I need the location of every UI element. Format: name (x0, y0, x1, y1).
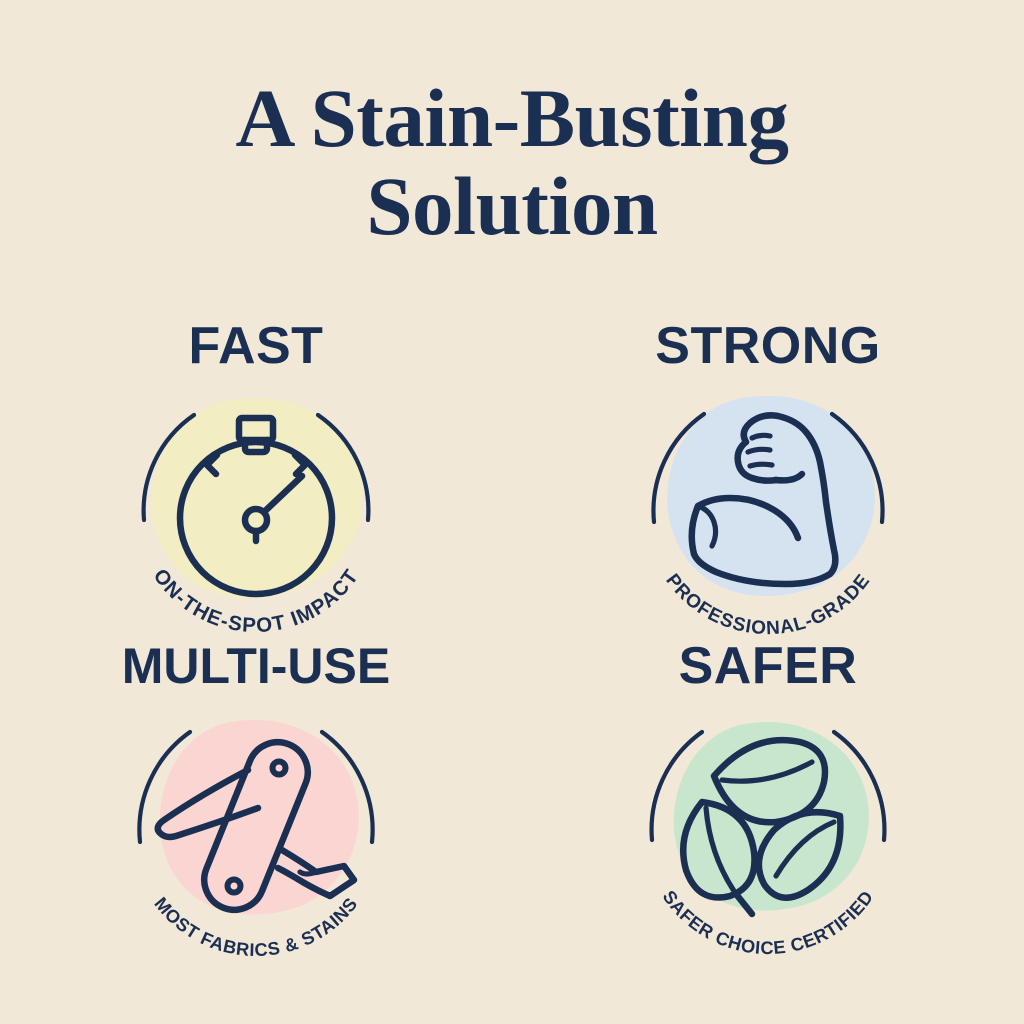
badge-strong-art: PROFESSIONAL-GRADE (618, 370, 918, 638)
badge-multi-use-heading: MULTI-USE (91, 638, 421, 694)
badge-multi-use: MULTI-USE (0, 638, 512, 958)
badge-strong-heading: STRONG (603, 318, 933, 374)
title-line-2: Solution (0, 162, 1024, 250)
badge-safer-art: SAFER CHOICE CERTIFIED (618, 690, 918, 958)
badge-fast: FAST (0, 318, 512, 638)
badge-strong: STRONG (512, 318, 1024, 638)
badge-fast-heading: FAST (91, 318, 421, 374)
badge-grid: FAST (0, 318, 1024, 958)
poster: A Stain-Busting Solution FAST (0, 0, 1024, 1024)
title-line-1: A Stain-Busting (0, 74, 1024, 162)
page-title: A Stain-Busting Solution (0, 74, 1024, 250)
badge-safer: SAFER (512, 638, 1024, 958)
badge-safer-heading: SAFER (603, 638, 933, 694)
badge-fast-art: ON-THE-SPOT IMPACT (106, 370, 406, 638)
badge-multi-use-art: MOST FABRICS & STAINS (106, 690, 406, 958)
